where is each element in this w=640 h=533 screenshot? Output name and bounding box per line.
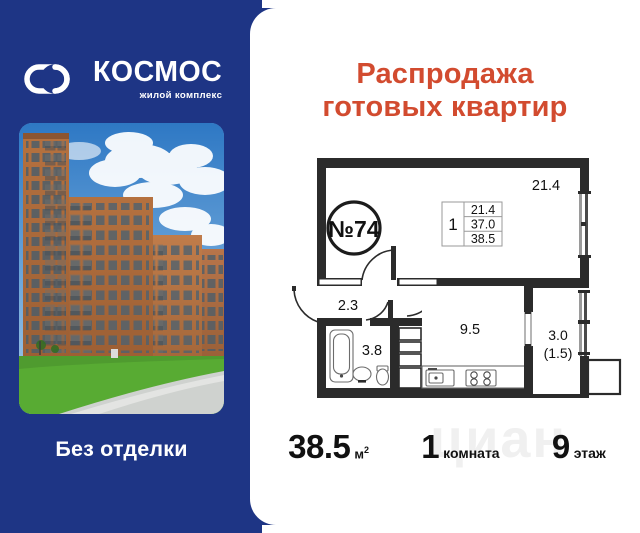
apartment-listing-poster: КОСМОС жилой комплекс [0, 0, 640, 533]
stat-room-count: 1 комната [421, 428, 499, 466]
room-count-unit: комната [443, 445, 499, 461]
finish-type-caption: Без отделки [0, 437, 243, 462]
room-label-balcony: 3.0 [548, 327, 568, 343]
building-photo [19, 123, 224, 414]
legend-room-count: 1 [448, 215, 457, 234]
apartment-stats: 38.5 м2 1 комната 9 этаж [262, 428, 632, 472]
legend-living-area: 21.4 [471, 203, 495, 217]
room-count-value: 1 [421, 428, 439, 466]
brand-text: КОСМОС жилой комплекс [93, 58, 222, 100]
building-photo-illustration [19, 123, 224, 414]
brand-title: КОСМОС [93, 58, 222, 87]
promo-headline-line-1: Распродажа [262, 58, 628, 91]
total-area-value: 38.5 [288, 428, 350, 466]
floorplan-drawing: №74 1 21.4 37.0 38.5 21.4 2.3 3.8 9.5 3.… [292, 150, 622, 412]
brand-tagline: жилой комплекс [93, 91, 222, 101]
card-edge-bottom [262, 525, 640, 533]
promo-headline-line-2: готовых квартир [262, 91, 628, 124]
stat-floor: 9 этаж [552, 428, 606, 466]
promo-headline: Распродажа готовых квартир [262, 58, 628, 125]
floor-unit: этаж [574, 445, 606, 461]
brand-lockup: КОСМОС жилой комплекс [24, 58, 222, 100]
floorplan: №74 1 21.4 37.0 38.5 21.4 2.3 3.8 9.5 3.… [292, 150, 622, 412]
legend-area-without-balcony: 37.0 [471, 218, 495, 232]
card-edge-right [632, 0, 640, 533]
room-label-bathroom: 3.8 [362, 343, 382, 359]
floorplan-legend: 1 21.4 37.0 38.5 [442, 202, 502, 246]
stat-total-area: 38.5 м2 [288, 428, 369, 466]
room-label-living-room: 21.4 [532, 178, 560, 194]
room-label-balcony-coefficient: (1.5) [544, 345, 573, 361]
card-edge-top [262, 0, 640, 8]
infinity-loop-icon [24, 64, 82, 94]
floor-value: 9 [552, 428, 570, 466]
apartment-number-badge-label: №74 [328, 216, 379, 242]
total-area-unit: м2 [354, 445, 369, 461]
room-label-kitchen: 9.5 [460, 322, 480, 338]
brand-panel: КОСМОС жилой комплекс [0, 0, 262, 533]
legend-total-area: 38.5 [471, 232, 495, 246]
room-label-hallway: 2.3 [338, 298, 358, 314]
